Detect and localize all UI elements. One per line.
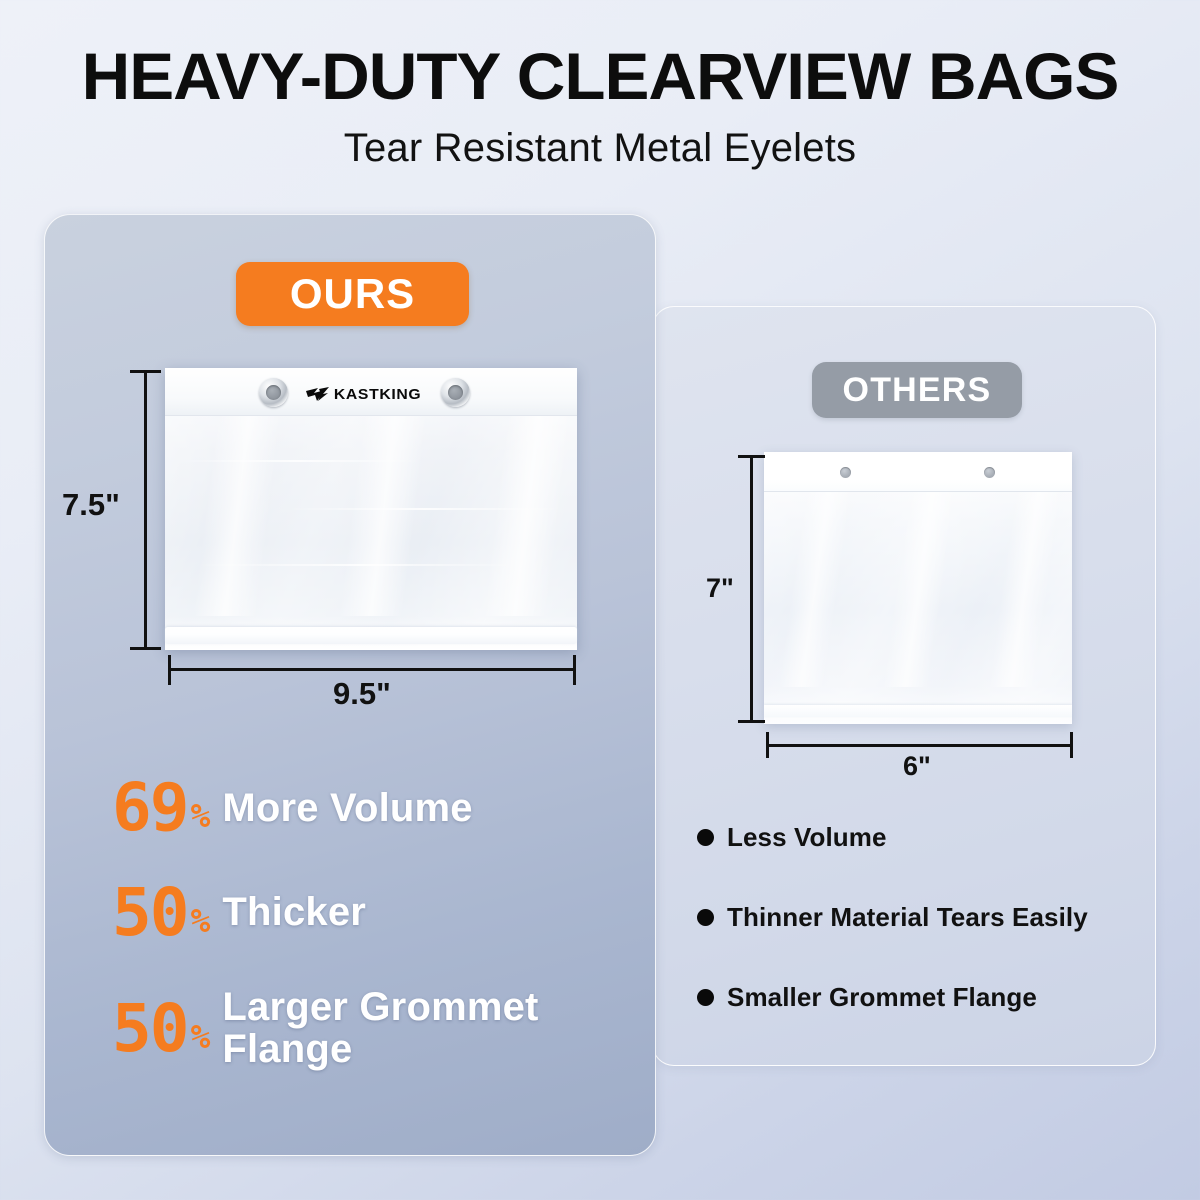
stat-thickness-percent: % bbox=[190, 904, 210, 937]
others-bag-zip-seal bbox=[764, 705, 1072, 717]
bag-wrinkle-2 bbox=[285, 508, 565, 510]
ours-height-label: 7.5" bbox=[62, 487, 120, 523]
bag-wrinkle-1 bbox=[173, 460, 423, 462]
ours-height-cap-top bbox=[130, 370, 161, 373]
stat-item-thickness: 50 % Thicker bbox=[112, 883, 632, 944]
bag-wrinkle-3 bbox=[195, 564, 525, 566]
stat-flange-label: Larger Grommet Flange bbox=[222, 987, 538, 1070]
page-title: HEAVY-DUTY CLEARVIEW BAGS bbox=[0, 42, 1200, 112]
others-drawbacks-list: Less Volume Thinner Material Tears Easil… bbox=[697, 822, 1117, 1013]
ours-width-dimension-line bbox=[168, 668, 576, 671]
ours-badge: OURS bbox=[236, 262, 469, 326]
list-item: Thinner Material Tears Easily bbox=[697, 902, 1117, 933]
others-width-dimension-line bbox=[766, 744, 1072, 747]
kastking-logo: KASTKING bbox=[305, 385, 419, 403]
bullet-label-thinner-material: Thinner Material Tears Easily bbox=[727, 902, 1088, 933]
others-height-cap-bottom bbox=[738, 720, 765, 723]
stat-thickness-number: 50 bbox=[112, 883, 187, 944]
list-item: Smaller Grommet Flange bbox=[697, 982, 1117, 1013]
others-height-dimension-line bbox=[750, 455, 753, 723]
others-bag-header-strip bbox=[764, 452, 1072, 492]
others-bag-image bbox=[764, 452, 1072, 724]
ours-stats-list: 69 % More Volume 50 % Thicker 50 % Large… bbox=[112, 778, 632, 1071]
bullet-dot-icon bbox=[697, 909, 714, 926]
plastic-sheen-1 bbox=[193, 416, 282, 616]
ours-width-cap-left bbox=[168, 655, 171, 685]
stat-item-volume: 69 % More Volume bbox=[112, 778, 632, 839]
stat-flange-percent: % bbox=[190, 1020, 210, 1053]
metal-grommet-left-icon bbox=[259, 378, 288, 407]
ours-bag-image: KASTKING bbox=[165, 368, 577, 650]
page-subtitle: Tear Resistant Metal Eyelets bbox=[0, 126, 1200, 171]
stat-volume-label: More Volume bbox=[222, 788, 472, 830]
others-width-cap-right bbox=[1070, 732, 1073, 758]
ours-height-dimension-line bbox=[144, 370, 147, 650]
others-width-cap-left bbox=[766, 732, 769, 758]
ours-height-cap-bottom bbox=[130, 647, 161, 650]
stat-volume-number: 69 bbox=[112, 778, 187, 839]
stat-thickness-label: Thicker bbox=[222, 892, 366, 934]
others-width-label: 6" bbox=[903, 751, 931, 782]
list-item: Less Volume bbox=[697, 822, 1117, 853]
kastking-wordmark: KASTKING bbox=[334, 386, 421, 403]
others-height-cap-top bbox=[738, 455, 765, 458]
ours-width-cap-right bbox=[573, 655, 576, 685]
bullet-label-less-volume: Less Volume bbox=[727, 822, 887, 853]
others-sheen-2 bbox=[882, 492, 955, 687]
ours-width-label: 9.5" bbox=[333, 676, 391, 712]
plastic-sheen-2 bbox=[339, 416, 428, 616]
bullet-dot-icon bbox=[697, 989, 714, 1006]
others-sheen-3 bbox=[988, 492, 1061, 687]
bullet-dot-icon bbox=[697, 829, 714, 846]
others-height-label: 7" bbox=[706, 573, 734, 604]
stat-item-flange: 50 % Larger Grommet Flange bbox=[112, 987, 632, 1070]
punched-hole-right-icon bbox=[984, 467, 995, 478]
header: HEAVY-DUTY CLEARVIEW BAGS Tear Resistant… bbox=[0, 42, 1200, 171]
plastic-sheen-3 bbox=[483, 416, 572, 616]
stat-volume-percent: % bbox=[190, 799, 210, 832]
kastking-arrow-icon bbox=[305, 386, 331, 403]
punched-hole-left-icon bbox=[840, 467, 851, 478]
stat-flange-label-line2: Flange bbox=[222, 1029, 538, 1071]
others-badge: OTHERS bbox=[812, 362, 1022, 418]
bullet-label-smaller-flange: Smaller Grommet Flange bbox=[727, 982, 1037, 1013]
stat-flange-number: 50 bbox=[112, 999, 187, 1060]
others-sheen-1 bbox=[778, 492, 851, 687]
stat-flange-label-line1: Larger Grommet bbox=[222, 985, 538, 1029]
ours-bag-zip-seal bbox=[165, 627, 577, 644]
metal-grommet-right-icon bbox=[441, 378, 470, 407]
